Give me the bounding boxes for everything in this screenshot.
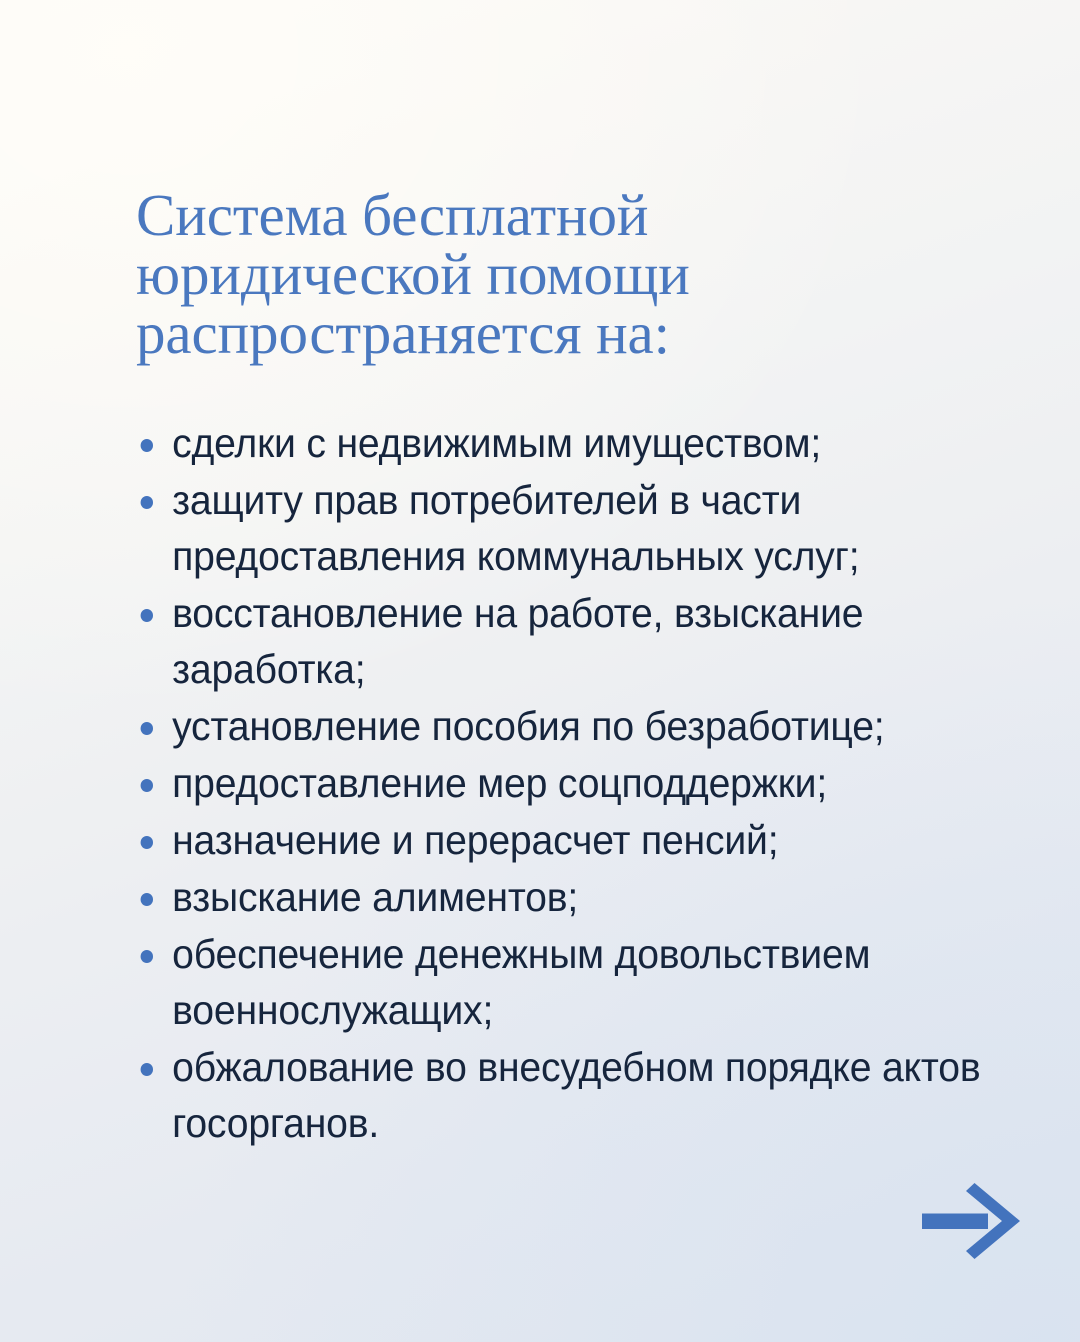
list-item-label: назначение и перерасчет пенсий;	[172, 812, 991, 868]
list-item-label: предоставление мер соцподдержки;	[172, 755, 991, 811]
list-item: установление пособия по безработице;	[132, 698, 992, 754]
coverage-bullet-list: сделки с недвижимым имуществом; защиту п…	[132, 415, 1032, 1152]
list-item: сделки с недвижимым имуществом;	[132, 415, 992, 471]
bullet-dot-icon	[141, 779, 153, 792]
list-item-label: обжалование во внесудебном порядке актов…	[172, 1039, 991, 1151]
bullet-dot-icon	[141, 439, 153, 452]
list-item: назначение и перерасчет пенсий;	[132, 812, 992, 868]
bullet-dot-icon	[141, 893, 153, 906]
bullet-dot-icon	[141, 836, 153, 849]
list-item-label: обеспечение денежным довольствием военно…	[172, 926, 991, 1038]
bullet-dot-icon	[141, 722, 153, 735]
list-item-label: защиту прав потребителей в части предост…	[172, 472, 991, 584]
list-item: обеспечение денежным довольствием военно…	[132, 926, 992, 1038]
slide-canvas: Система бесплатной юридической помощи ра…	[0, 0, 1080, 1342]
list-item: предоставление мер соцподдержки;	[132, 755, 992, 811]
bullet-dot-icon	[141, 496, 153, 509]
list-item-label: установление пособия по безработице;	[172, 698, 991, 754]
list-item: защиту прав потребителей в части предост…	[132, 472, 992, 584]
list-item: обжалование во внесудебном порядке актов…	[132, 1039, 992, 1151]
list-item: взыскание алиментов;	[132, 869, 992, 925]
bullet-dot-icon	[141, 609, 153, 622]
page-title: Система бесплатной юридической помощи ра…	[136, 186, 836, 363]
arrow-right-icon	[922, 1180, 1022, 1262]
next-slide-button[interactable]	[922, 1180, 1022, 1262]
list-item-label: восстановление на работе, взыскание зара…	[172, 585, 991, 697]
list-item-label: взыскание алиментов;	[172, 869, 991, 925]
bullet-dot-icon	[141, 1063, 153, 1076]
list-item: восстановление на работе, взыскание зара…	[132, 585, 992, 697]
bullet-dot-icon	[141, 950, 153, 963]
list-item-label: сделки с недвижимым имуществом;	[172, 415, 991, 471]
